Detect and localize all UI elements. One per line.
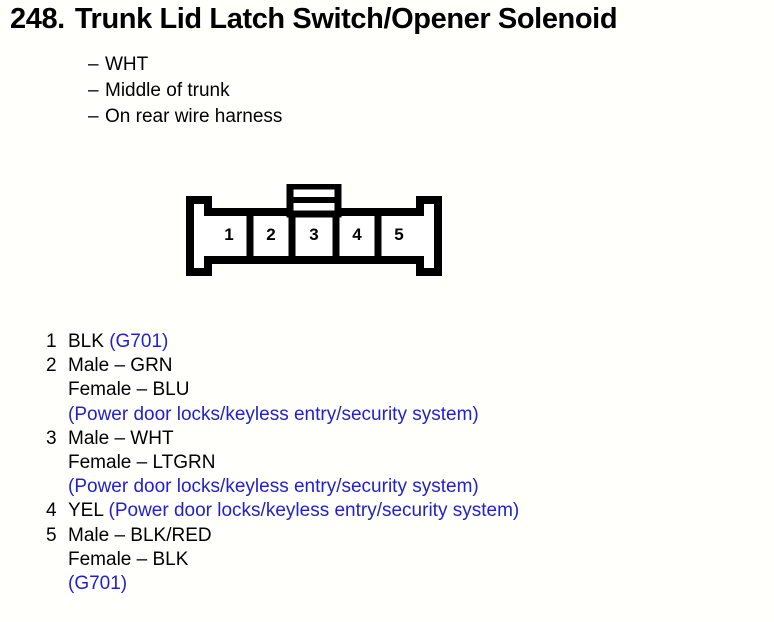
note-dash: – (88, 104, 105, 130)
pin-detail-lines: YEL (Power door locks/keyless entry/secu… (68, 499, 746, 523)
pin-wire-color: Male – BLK/RED (68, 525, 212, 546)
pin-wire-color: Male – WHT (68, 428, 174, 449)
connector-pin-label-4: 4 (336, 225, 378, 245)
pin-entry: 5Male – BLK/REDFemale – BLK(G701) (46, 524, 746, 597)
connector-pin-label-1: 1 (208, 225, 250, 245)
pin-detail-line: (G701) (68, 572, 746, 596)
pin-wire-color: Male – GRN (68, 355, 173, 376)
pin-detail-line: Female – LTGRN (68, 451, 746, 475)
pin-entry: 1BLK (G701) (46, 330, 746, 354)
pin-detail-lines: Male – WHTFemale – LTGRN(Power door lock… (68, 427, 746, 500)
pin-list: 1BLK (G701)2Male – GRNFemale – BLU(Power… (46, 330, 746, 596)
note-dash: – (88, 78, 105, 104)
connector-pin-label-3: 3 (292, 225, 336, 245)
note-item: –WHT (88, 52, 282, 78)
pin-detail-line: BLK (G701) (68, 330, 746, 354)
pin-number: 3 (46, 427, 66, 451)
note-dash: – (88, 52, 105, 78)
pin-detail-line: Female – BLU (68, 378, 746, 402)
pin-detail-line: Male – GRN (68, 354, 746, 378)
pin-detail-lines: BLK (G701) (68, 330, 746, 354)
page-title: 248.Trunk Lid Latch Switch/Opener Soleno… (10, 2, 770, 36)
pin-detail-lines: Male – BLK/REDFemale – BLK(G701) (68, 524, 746, 597)
pin-wire-color: Female – BLU (68, 379, 189, 400)
pin-detail-lines: Male – GRNFemale – BLU(Power door locks/… (68, 354, 746, 427)
note-list: –WHT–Middle of trunk–On rear wire harnes… (88, 52, 282, 130)
pin-wire-color: BLK (68, 331, 109, 352)
pin-number: 1 (46, 330, 66, 354)
connector-diagram: 12345 (186, 184, 442, 280)
pin-detail-line: (Power door locks/keyless entry/security… (68, 403, 746, 427)
pin-circuit-annotation: (G701) (68, 573, 127, 594)
pin-wire-color: YEL (68, 500, 109, 521)
pin-detail-line: YEL (Power door locks/keyless entry/secu… (68, 499, 746, 523)
pin-number: 4 (46, 499, 66, 523)
pin-entry: 3Male – WHTFemale – LTGRN(Power door loc… (46, 427, 746, 500)
pin-detail-line: Male – BLK/RED (68, 524, 746, 548)
pin-circuit-annotation: (Power door locks/keyless entry/security… (109, 500, 520, 521)
note-text: On rear wire harness (105, 106, 282, 127)
pin-detail-line: Male – WHT (68, 427, 746, 451)
pin-wire-color: Female – LTGRN (68, 452, 215, 473)
connector-pin-label-5: 5 (378, 225, 420, 245)
pin-entry: 4YEL (Power door locks/keyless entry/sec… (46, 499, 746, 523)
pin-number: 5 (46, 524, 66, 548)
pin-circuit-annotation: (Power door locks/keyless entry/security… (68, 404, 479, 425)
pin-detail-line: Female – BLK (68, 548, 746, 572)
connector-pin-label-2: 2 (250, 225, 292, 245)
page-title-text: Trunk Lid Latch Switch/Opener Solenoid (75, 3, 617, 35)
note-text: Middle of trunk (105, 80, 230, 101)
pin-number: 2 (46, 354, 66, 378)
pin-wire-color: Female – BLK (68, 549, 188, 570)
pin-entry: 2Male – GRNFemale – BLU(Power door locks… (46, 354, 746, 427)
page-title-number: 248. (10, 3, 65, 35)
note-item: –On rear wire harness (88, 104, 282, 130)
note-text: WHT (105, 54, 148, 75)
pin-circuit-annotation: (G701) (109, 331, 168, 352)
pin-detail-line: (Power door locks/keyless entry/security… (68, 475, 746, 499)
note-item: –Middle of trunk (88, 78, 282, 104)
pin-circuit-annotation: (Power door locks/keyless entry/security… (68, 476, 479, 497)
